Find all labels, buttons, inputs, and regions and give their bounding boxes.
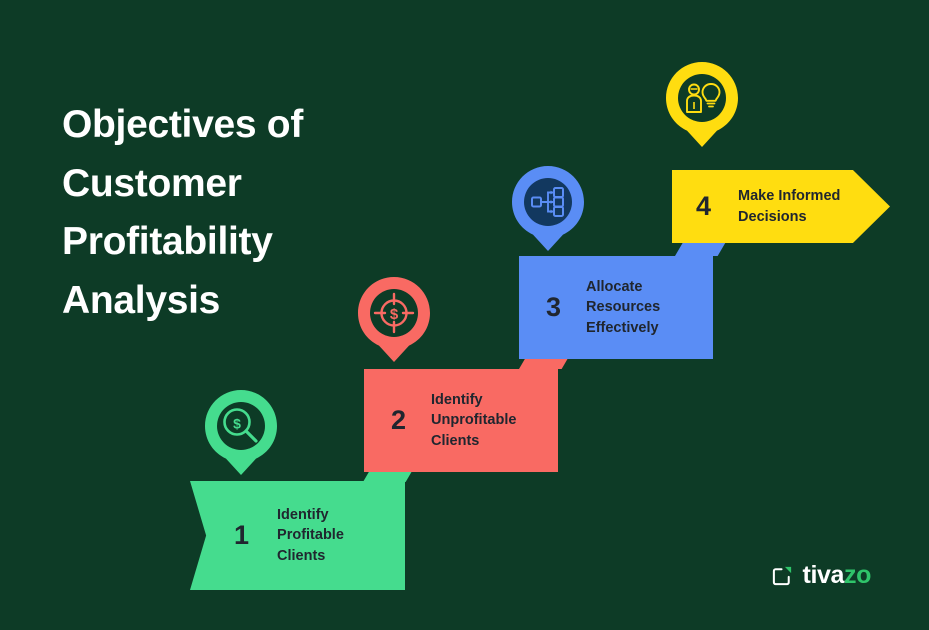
step-4-number: 4 [696, 193, 711, 220]
logo-text-primary: tiva [803, 561, 844, 589]
step-1-pin-marker: $ [205, 390, 277, 475]
step-3-pin-marker [512, 166, 584, 251]
person-lightbulb-icon [666, 62, 738, 147]
tivazo-bracket-icon [771, 564, 794, 587]
infographic-canvas: Objectives of Customer Profitability Ana… [0, 0, 929, 630]
step-2-banner[interactable]: 2 Identify Unprofitable Clients [364, 369, 558, 472]
title-line-1: Objectives of [62, 96, 392, 155]
step-4-label: Make Informed Decisions [738, 186, 840, 227]
step-2-label: Identify Unprofitable Clients [431, 390, 516, 452]
allocation-network-icon [512, 166, 584, 251]
page-title: Objectives of Customer Profitability Ana… [62, 96, 392, 330]
step-3-label: Allocate Resources Effectively [586, 277, 660, 339]
step-2-pin-marker: $ [358, 277, 430, 362]
logo-text-accent: zo [844, 561, 871, 589]
svg-text:$: $ [233, 416, 241, 432]
step-1-banner[interactable]: 1 Identify Profitable Clients [190, 481, 405, 590]
title-line-3: Profitability [62, 213, 392, 272]
svg-text:$: $ [390, 306, 399, 323]
tivazo-logo: tivazo [771, 563, 871, 588]
magnifier-dollar-icon: $ [205, 390, 277, 475]
step-3-number: 3 [546, 294, 561, 321]
step-4-banner[interactable]: 4 Make Informed Decisions [672, 170, 890, 243]
step-3-banner[interactable]: 3 Allocate Resources Effectively [519, 256, 713, 359]
step-2-number: 2 [391, 407, 406, 434]
tivazo-wordmark: tivazo [803, 563, 871, 588]
step-1-number: 1 [234, 522, 249, 549]
title-line-2: Customer [62, 155, 392, 214]
step-4-pin-marker [666, 62, 738, 147]
title-line-4: Analysis [62, 272, 392, 331]
step-1-label: Identify Profitable Clients [277, 505, 344, 567]
target-dollar-icon: $ [358, 277, 430, 362]
